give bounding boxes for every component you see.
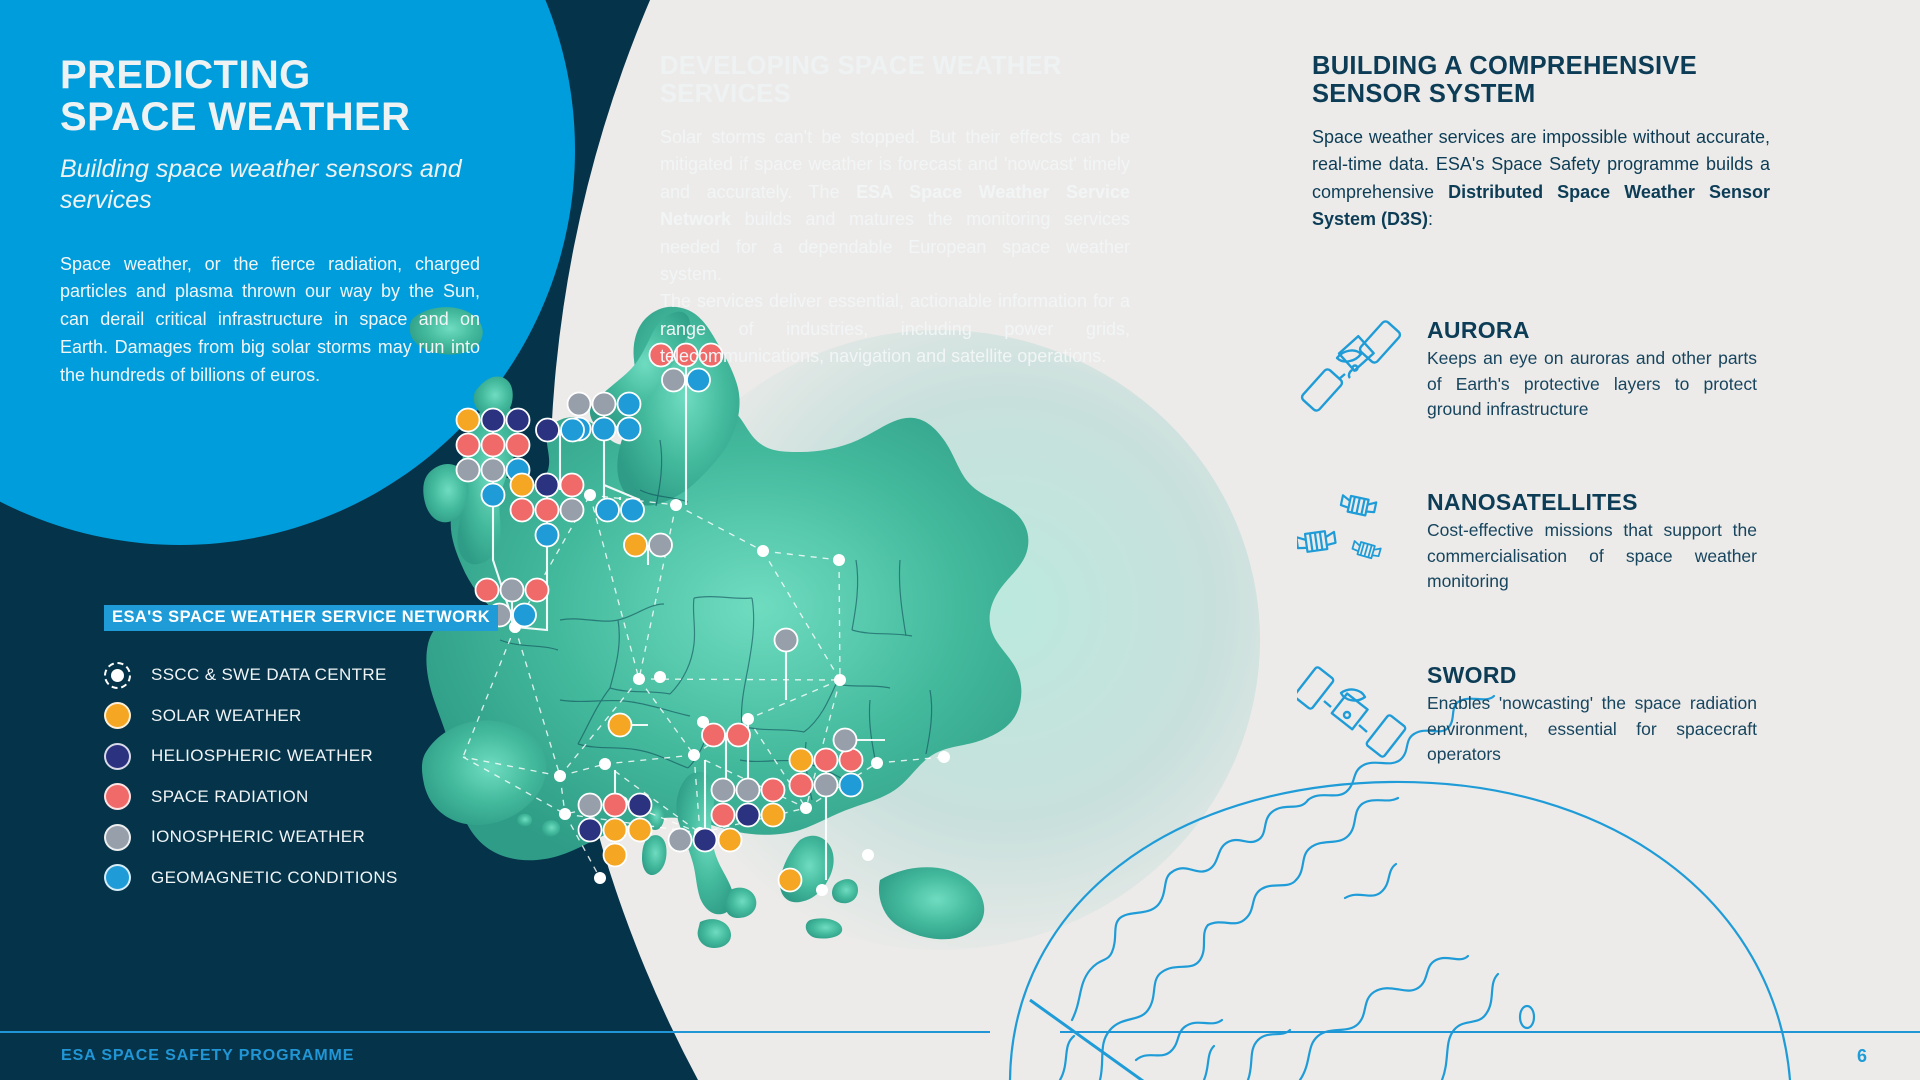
page-title-line1: PREDICTING [60, 53, 311, 97]
map-service-dot [579, 819, 602, 842]
legend-swatch-icon [104, 662, 131, 689]
map-legend: ESA'S SPACE WEATHER SERVICE NETWORK SSCC… [104, 605, 498, 898]
map-node-dot [594, 872, 606, 884]
map-service-dot [604, 794, 627, 817]
map-service-dot [840, 774, 863, 797]
map-service-dot [779, 869, 802, 892]
sensor-aurora-body: Keeps an eye on auroras and other parts … [1427, 346, 1757, 422]
map-node-dot [862, 849, 874, 861]
map-node-dot [816, 884, 828, 896]
sensor-aurora-text: AURORA Keeps an eye on auroras and other… [1427, 318, 1757, 422]
sensor-nanosatellites-text: NANOSATELLITES Cost-effective missions t… [1427, 490, 1757, 594]
map-service-dot [669, 829, 692, 852]
map-node-dot [688, 749, 700, 761]
map-service-dot [712, 779, 735, 802]
map-service-dot [762, 804, 785, 827]
map-service-dot [593, 418, 616, 441]
map-node-dot [599, 758, 611, 770]
sensor-system-heading: BUILDING A COMPREHENSIVE SENSOR SYSTEM [1312, 52, 1770, 108]
map-service-dot [536, 524, 559, 547]
map-service-dot [536, 499, 559, 522]
map-node-dot [757, 545, 769, 557]
legend-swatch-icon [104, 702, 131, 729]
map-service-dot [624, 534, 647, 557]
map-service-dot [649, 534, 672, 557]
map-service-dot [719, 829, 742, 852]
map-service-dot [579, 794, 602, 817]
map-service-dot [457, 459, 480, 482]
map-service-dot [536, 419, 559, 442]
map-service-dot [775, 629, 798, 652]
map-node-dot [833, 554, 845, 566]
legend-label: GEOMAGNETIC CONDITIONS [151, 868, 398, 888]
map-service-dot [662, 369, 685, 392]
map-service-dot [561, 419, 584, 442]
map-landmass [410, 307, 1029, 948]
map-node-dot [633, 673, 645, 685]
footer-corner-slash [1020, 1000, 1160, 1080]
map-service-dot [737, 779, 760, 802]
sensor-aurora-title: AURORA [1427, 318, 1757, 342]
map-service-dot [609, 714, 632, 737]
satellite-icon [1295, 318, 1411, 414]
map-service-dot [511, 474, 534, 497]
map-service-dot [596, 499, 619, 522]
legend-row: GEOMAGNETIC CONDITIONS [104, 858, 498, 899]
map-node-dot [584, 489, 596, 501]
page-title-line2: SPACE WEATHER [60, 95, 410, 139]
sensor-system-body: Space weather services are impossible wi… [1312, 124, 1770, 233]
map-service-dot [561, 474, 584, 497]
map-service-dot [482, 459, 505, 482]
legend-row: SPACE RADIATION [104, 777, 498, 818]
sensor-item-aurora: AURORA Keeps an eye on auroras and other… [1295, 318, 1757, 422]
map-service-dot [815, 749, 838, 772]
map-service-dot [482, 484, 505, 507]
map-service-dot [604, 819, 627, 842]
developing-services-body: Solar storms can't be stopped. But their… [660, 124, 1130, 370]
footer-rule-left [0, 1031, 990, 1033]
developing-services-para-1: Solar storms can't be stopped. But their… [660, 124, 1130, 288]
legend-row: SOLAR WEATHER [104, 696, 498, 737]
map-service-dot [457, 434, 480, 457]
legend-swatch-icon [104, 783, 131, 810]
sensor-sword-body: Enables 'nowcasting' the space radiation… [1427, 691, 1757, 767]
legend-row: IONOSPHERIC WEATHER [104, 817, 498, 858]
map-service-dot [536, 474, 559, 497]
map-node-dot [800, 802, 812, 814]
legend-swatch-icon [104, 824, 131, 851]
sword-satellite-icon [1295, 663, 1411, 763]
map-service-dot [702, 724, 725, 747]
map-service-dot [712, 804, 735, 827]
map-service-dot [834, 729, 857, 752]
para1-part-b: builds and matures the monitoring servic… [660, 209, 1130, 284]
infographic-page: PREDICTING SPACE WEATHER Building space … [0, 0, 1920, 1080]
map-node-dot [554, 770, 566, 782]
legend-label: HELIOSPHERIC WEATHER [151, 746, 373, 766]
map-service-dot [727, 724, 750, 747]
map-service-dot [790, 774, 813, 797]
legend-list: SSCC & SWE DATA CENTRESOLAR WEATHERHELIO… [104, 655, 498, 898]
map-service-dot [618, 393, 641, 416]
legend-label: SPACE RADIATION [151, 787, 309, 807]
map-service-dot [507, 409, 530, 432]
column-sensor-system: BUILDING A COMPREHENSIVE SENSOR SYSTEM S… [1312, 52, 1770, 234]
map-node-dot [871, 757, 883, 769]
sensor-sword-text: SWORD Enables 'nowcasting' the space rad… [1427, 663, 1757, 767]
developing-services-para-2: The services deliver essential, actionab… [660, 288, 1130, 370]
page-subtitle: Building space weather sensors and servi… [60, 154, 480, 217]
map-service-dot [526, 579, 549, 602]
map-service-dot [629, 794, 652, 817]
footer-rule-right [1060, 1031, 1920, 1033]
column-predicting-space-weather: PREDICTING SPACE WEATHER Building space … [60, 55, 480, 389]
map-node-dot [742, 713, 754, 725]
legend-row: HELIOSPHERIC WEATHER [104, 736, 498, 777]
map-node-dot [654, 671, 666, 683]
map-service-dot [737, 804, 760, 827]
legend-label: SSCC & SWE DATA CENTRE [151, 665, 387, 685]
map-service-dot [604, 844, 627, 867]
map-service-dot [621, 499, 644, 522]
nanosatellites-icon [1295, 490, 1411, 586]
map-service-dot [513, 604, 536, 627]
map-node-dot [559, 808, 571, 820]
map-service-dot [790, 749, 813, 772]
map-service-dot [687, 369, 710, 392]
legend-row: SSCC & SWE DATA CENTRE [104, 655, 498, 696]
page-number: 6 [1857, 1046, 1867, 1067]
intro-paragraph: Space weather, or the fierce radiation, … [60, 251, 480, 390]
legend-label: SOLAR WEATHER [151, 706, 302, 726]
sensor-nanosatellites-body: Cost-effective missions that support the… [1427, 518, 1757, 594]
sensor-nanosatellites-title: NANOSATELLITES [1427, 490, 1757, 514]
map-service-dot [501, 579, 524, 602]
map-service-dot [457, 409, 480, 432]
map-service-dot [482, 434, 505, 457]
column-developing-services: DEVELOPING SPACE WEATHER SERVICES Solar … [660, 52, 1130, 370]
map-service-dot [618, 418, 641, 441]
map-node-dot [938, 751, 950, 763]
footer-programme-label: ESA SPACE SAFETY PROGRAMME [61, 1047, 354, 1065]
sensor-item-nanosatellites: NANOSATELLITES Cost-effective missions t… [1295, 490, 1757, 594]
map-service-dot [593, 393, 616, 416]
map-service-dot [476, 579, 499, 602]
map-service-dot [511, 499, 534, 522]
map-service-dot [568, 393, 591, 416]
map-service-dot [815, 774, 838, 797]
map-node-dot [670, 499, 682, 511]
map-service-dot [762, 779, 785, 802]
map-service-dot [507, 434, 530, 457]
sensor-para-b: : [1428, 209, 1433, 229]
page-title: PREDICTING SPACE WEATHER [60, 55, 480, 138]
legend-swatch-icon [104, 864, 131, 891]
legend-label: IONOSPHERIC WEATHER [151, 827, 365, 847]
legend-title: ESA'S SPACE WEATHER SERVICE NETWORK [104, 605, 498, 631]
sensor-item-sword: SWORD Enables 'nowcasting' the space rad… [1295, 663, 1757, 767]
map-service-dot [694, 829, 717, 852]
map-node-dot [834, 674, 846, 686]
map-service-dot [629, 819, 652, 842]
developing-services-heading: DEVELOPING SPACE WEATHER SERVICES [660, 52, 1130, 108]
legend-swatch-icon [104, 743, 131, 770]
map-service-dot [482, 409, 505, 432]
sensor-sword-title: SWORD [1427, 663, 1757, 687]
map-service-dot [561, 499, 584, 522]
